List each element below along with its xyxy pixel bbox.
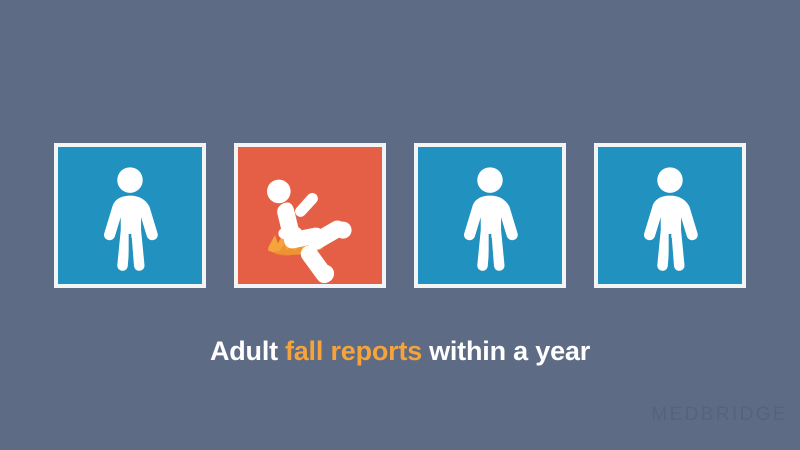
pictogram-row (54, 143, 746, 288)
caption-suffix: within a year (429, 336, 590, 366)
tile-1-standing[interactable] (54, 143, 206, 288)
caption-prefix: Adult (210, 336, 278, 366)
person-falling-icon (238, 147, 382, 284)
caption-highlight: fall reports (285, 336, 422, 366)
slide-canvas: Adultfall reportswithin a year MEDBRIDGE (0, 0, 800, 450)
tile-4-standing[interactable] (594, 143, 746, 288)
person-standing-icon (418, 147, 562, 284)
person-standing-icon (58, 147, 202, 284)
tile-3-standing[interactable] (414, 143, 566, 288)
tile-2-fallen[interactable] (234, 143, 386, 288)
slide-caption: Adultfall reportswithin a year (0, 334, 800, 368)
person-standing-icon (598, 147, 742, 284)
medbridge-watermark: MEDBRIDGE (651, 404, 788, 426)
